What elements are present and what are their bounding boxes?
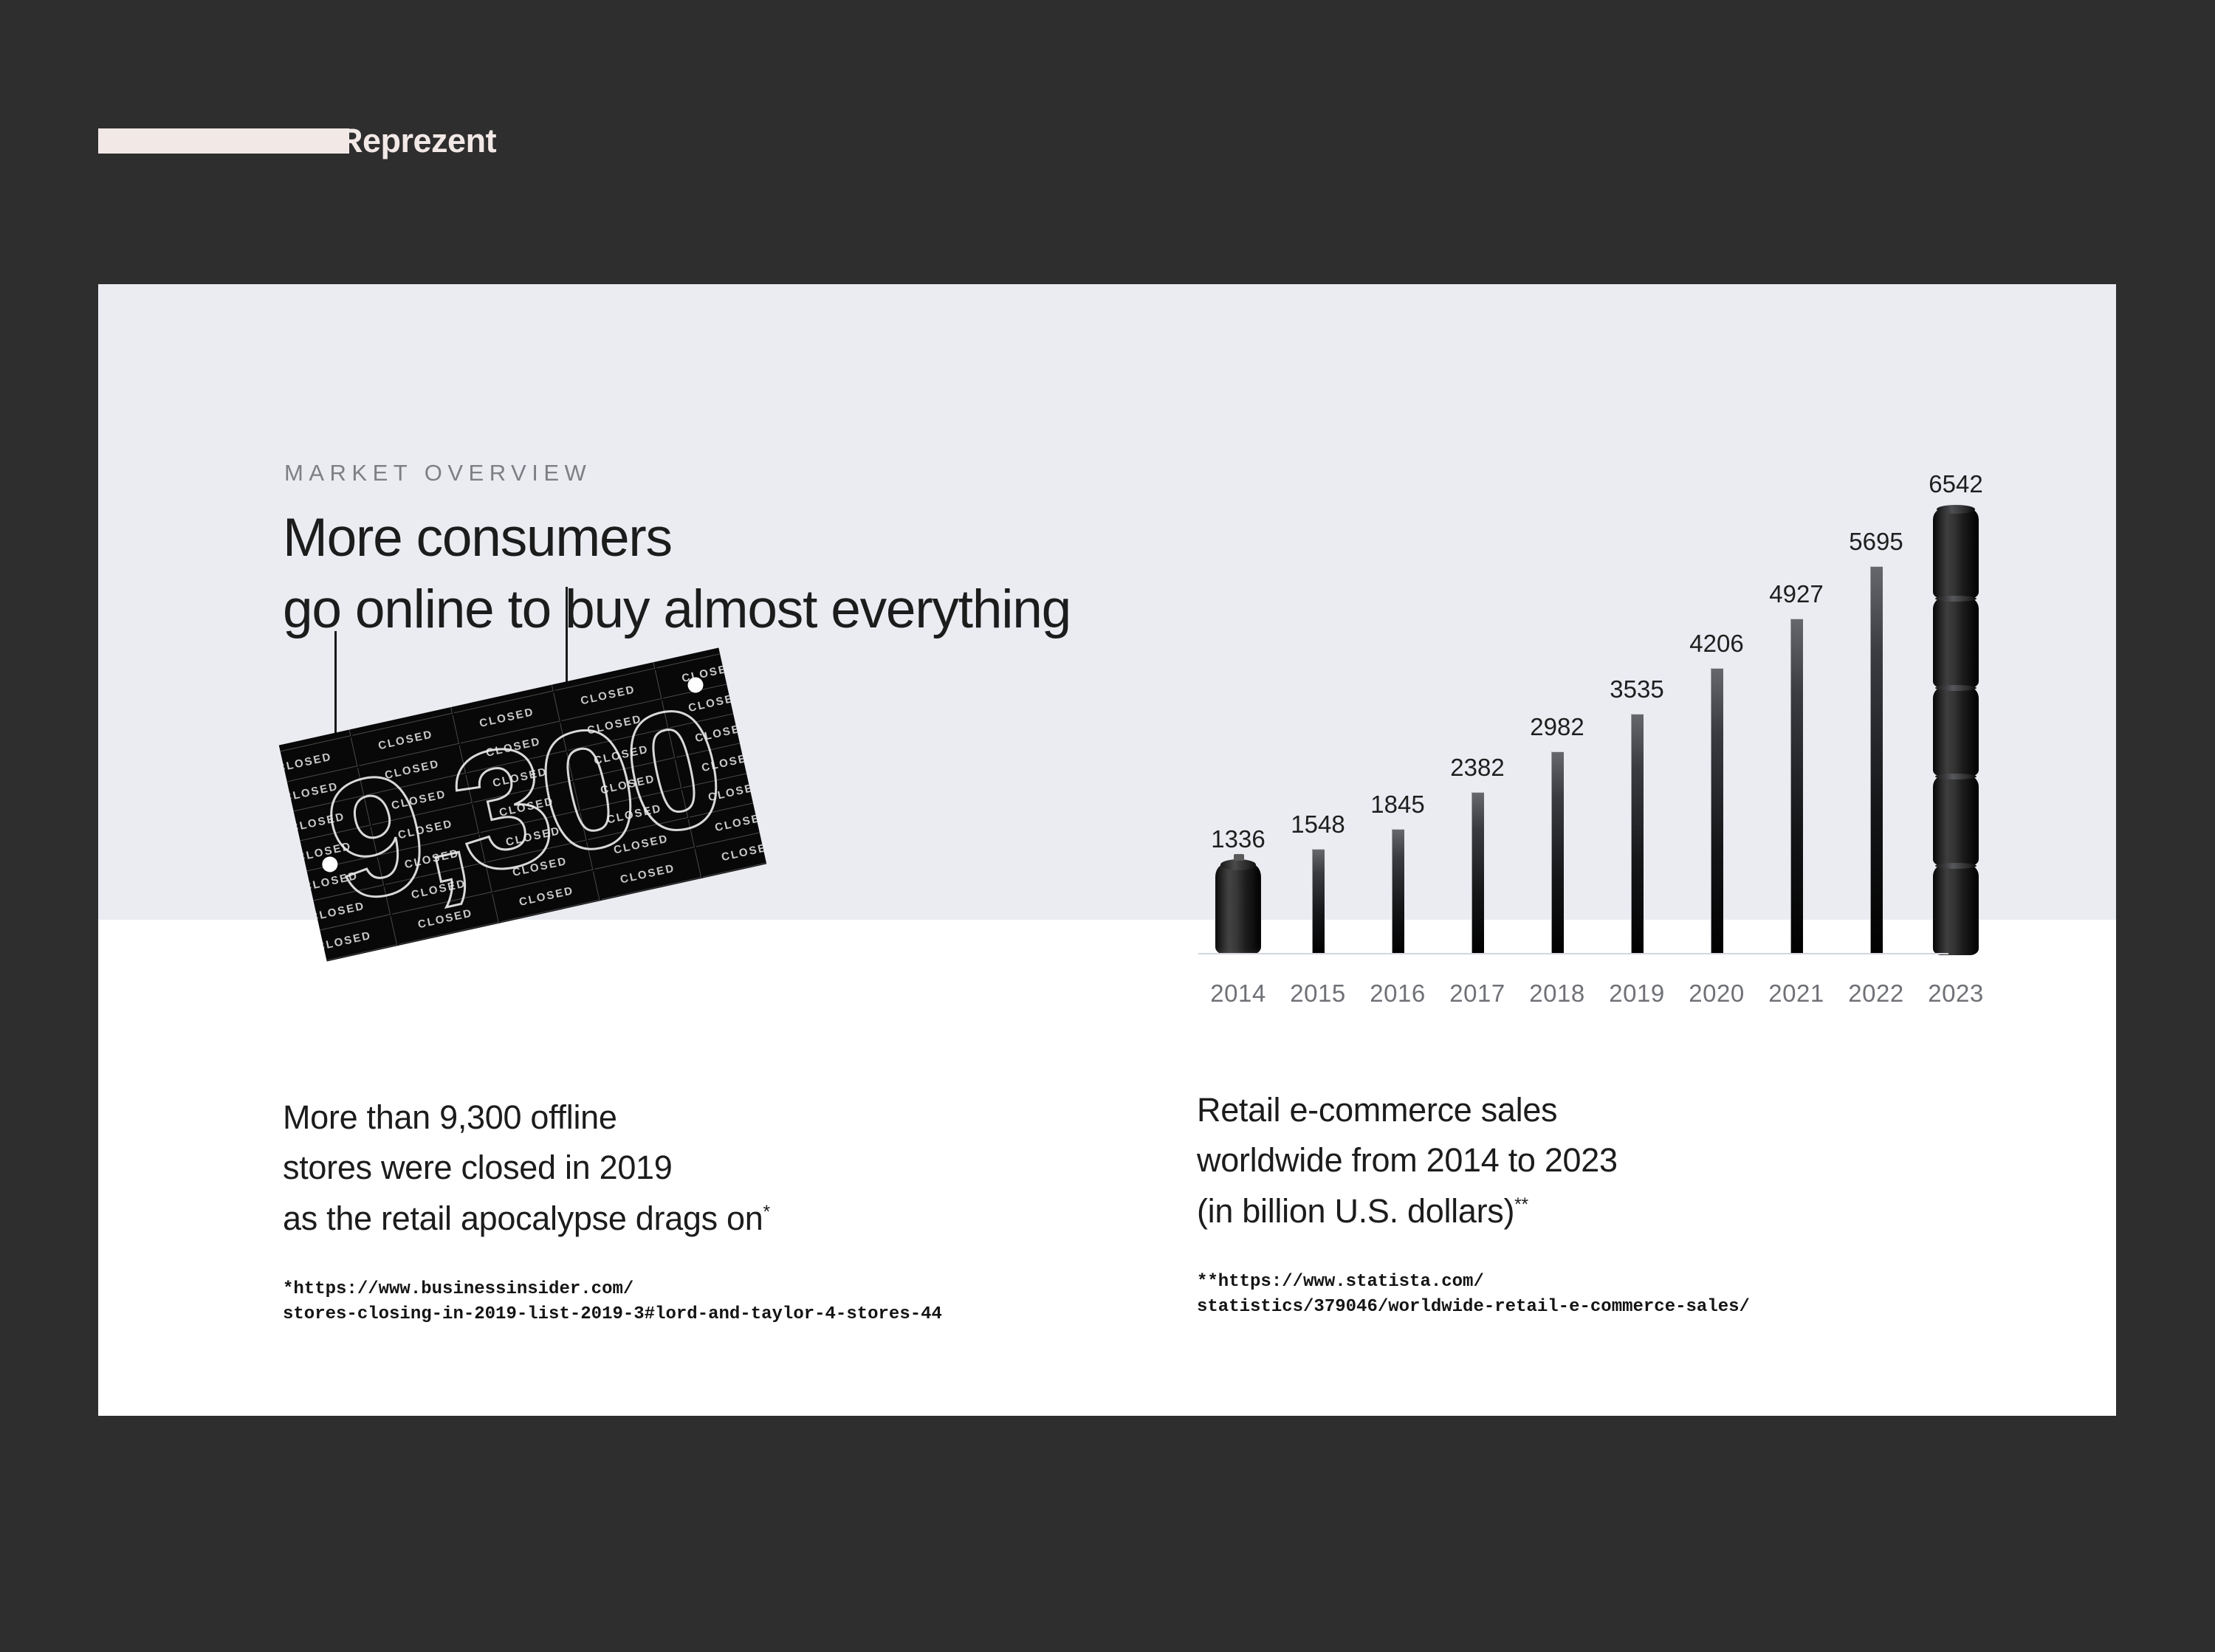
chart-x-axis: 2014201520162017201820192020202120222023 xyxy=(1198,980,1996,1008)
stacked-can xyxy=(1933,509,1979,599)
chart-bar xyxy=(1551,751,1564,954)
chart-bar-group: 1845 xyxy=(1358,467,1438,954)
left-body-span: More than 9,300 offline stores were clos… xyxy=(283,1098,763,1237)
stacked-can xyxy=(1933,865,1979,955)
stacked-can xyxy=(1933,776,1979,866)
chart-bar-group: 1336 xyxy=(1198,467,1278,954)
left-footnote: *https://www.businessinsider.com/ stores… xyxy=(283,1277,1169,1327)
chart-x-tick-label: 2021 xyxy=(1756,980,1836,1008)
chart-bar xyxy=(1471,792,1484,954)
chart-x-tick-label: 2019 xyxy=(1597,980,1677,1008)
chart-x-tick-label: 2014 xyxy=(1198,980,1278,1008)
can-pull-tab-icon xyxy=(1234,854,1244,861)
right-body-span: Retail e-commerce sales worldwide from 2… xyxy=(1197,1091,1618,1230)
chart-x-tick-label: 2015 xyxy=(1278,980,1358,1008)
chart-bar xyxy=(1312,849,1325,954)
right-body-text: Retail e-commerce sales worldwide from 2… xyxy=(1197,1085,2068,1236)
chart-bar xyxy=(1392,829,1404,954)
right-body-marker: ** xyxy=(1514,1195,1528,1215)
stacked-can xyxy=(1933,687,1979,777)
brand-logo: Reprezent xyxy=(98,120,255,161)
chart-bar-group: 2382 xyxy=(1438,467,1517,954)
chart-bar xyxy=(1790,619,1803,954)
ecommerce-sales-bar-chart: 1336154818452382298235354206492756956542… xyxy=(1198,432,1996,1022)
chart-bar-group: 6542 xyxy=(1916,467,1996,954)
closed-sign-number: 9,300 xyxy=(279,648,766,962)
stacked-can xyxy=(1933,598,1979,688)
chart-bar xyxy=(1870,566,1883,954)
chart-baseline xyxy=(1198,953,1948,954)
chart-bar-group: 5695 xyxy=(1836,467,1916,954)
chart-bar xyxy=(1711,668,1723,954)
left-body-marker: * xyxy=(763,1202,770,1222)
chart-plot-area: 1336154818452382298235354206492756956542 xyxy=(1198,467,1996,954)
chart-bar-group: 1548 xyxy=(1278,467,1358,954)
chart-bar xyxy=(1631,714,1644,954)
can-body xyxy=(1215,864,1261,954)
brand-name: Reprezent xyxy=(339,122,496,160)
chart-x-tick-label: 2020 xyxy=(1677,980,1756,1008)
chart-x-tick-label: 2016 xyxy=(1358,980,1438,1008)
chart-x-tick-label: 2017 xyxy=(1438,980,1517,1008)
left-body-text: More than 9,300 offline stores were clos… xyxy=(283,1092,1132,1244)
chart-bar-group: 3535 xyxy=(1597,467,1677,954)
chart-bar-value-label: 6542 xyxy=(1882,470,2030,498)
chart-x-tick-label: 2022 xyxy=(1836,980,1916,1008)
closed-sign-board: CLOSEDCLOSEDCLOSEDCLOSEDCLOSEDCLOSEDCLOS… xyxy=(279,648,766,962)
chart-bar-group: 4206 xyxy=(1677,467,1756,954)
chart-bar-group: 2982 xyxy=(1517,467,1597,954)
right-footnote: **https://www.statista.com/ statistics/3… xyxy=(1197,1270,2116,1320)
can-lid xyxy=(1220,859,1256,870)
page-title: More consumers go online to buy almost e… xyxy=(283,502,1071,645)
slide-panel: MARKET OVERVIEW More consumers go online… xyxy=(98,284,2116,1416)
brand-bar xyxy=(98,128,349,154)
chart-x-tick-label: 2023 xyxy=(1916,980,1996,1008)
chart-bar-can-stack xyxy=(1933,509,1979,954)
section-eyebrow: MARKET OVERVIEW xyxy=(284,460,591,486)
slide-canvas: Reprezent MARKET OVERVIEW More consumers… xyxy=(0,0,2215,1652)
chart-x-tick-label: 2018 xyxy=(1517,980,1597,1008)
chart-bar-can xyxy=(1215,864,1261,954)
